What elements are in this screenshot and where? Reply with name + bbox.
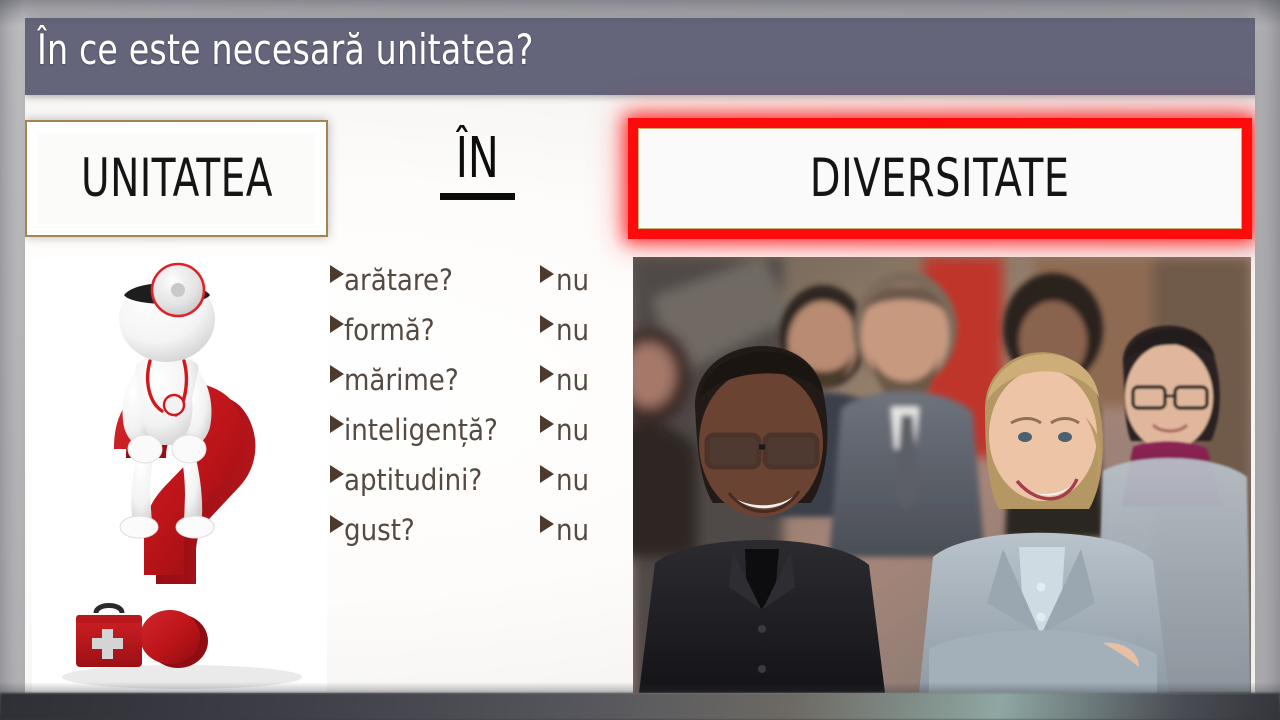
- diverse-business-team-photo: [633, 257, 1251, 693]
- list-item: inteligență? nu: [330, 415, 650, 465]
- in-underline: [440, 193, 515, 200]
- triangle-bullet-icon: [330, 315, 344, 333]
- page-title: În ce este necesară unitatea?: [37, 25, 534, 74]
- list-item: aptitudini? nu: [330, 465, 650, 515]
- diversitate-label: DIVERSITATE: [810, 148, 1070, 209]
- answer-label: nu: [556, 463, 589, 497]
- answer-cell: nu: [540, 465, 556, 483]
- diverse-team-photo-svg: [633, 257, 1251, 693]
- list-item: gust? nu: [330, 515, 650, 565]
- in-connector: ÎN: [417, 131, 537, 235]
- bottom-background-strip: [0, 693, 1280, 720]
- list-item: formă? nu: [330, 315, 650, 365]
- slide-root: În ce este necesară unitatea? UNITATEA Î…: [0, 0, 1280, 720]
- list-item: arătare? nu: [330, 265, 650, 315]
- triangle-bullet-icon: [540, 465, 554, 483]
- question-label: aptitudini?: [344, 463, 482, 497]
- answer-label: nu: [556, 313, 589, 347]
- question-label: arătare?: [344, 263, 453, 297]
- header-row: UNITATEA ÎN DIVERSITATE: [25, 113, 1255, 253]
- answer-cell: nu: [540, 315, 556, 333]
- unitatea-box[interactable]: UNITATEA: [25, 120, 328, 237]
- question-label: mărime?: [344, 363, 459, 397]
- slide-title-bar: În ce este necesară unitatea?: [25, 18, 1255, 95]
- triangle-bullet-icon: [330, 415, 344, 433]
- triangle-bullet-icon: [330, 365, 344, 383]
- triangle-bullet-icon: [330, 515, 344, 533]
- in-label: ÎN: [455, 131, 498, 187]
- question-label: gust?: [344, 513, 415, 547]
- body-row: arătare? nu formă? nu mărime: [25, 257, 1255, 693]
- diversitate-box[interactable]: DIVERSITATE: [628, 118, 1252, 239]
- list-item: mărime? nu: [330, 365, 650, 415]
- triangle-bullet-icon: [540, 365, 554, 383]
- answer-cell: nu: [540, 365, 556, 383]
- answer-label: nu: [556, 413, 589, 447]
- question-answer-list: arătare? nu formă? nu mărime: [330, 265, 650, 565]
- triangle-bullet-icon: [330, 265, 344, 283]
- answer-cell: nu: [540, 415, 556, 433]
- triangle-bullet-icon: [540, 515, 554, 533]
- question-label: formă?: [344, 313, 435, 347]
- presentation-slide: În ce este necesară unitatea? UNITATEA Î…: [25, 18, 1255, 693]
- triangle-bullet-icon: [540, 315, 554, 333]
- doctor-illustration-svg: [32, 257, 327, 693]
- triangle-bullet-icon: [540, 415, 554, 433]
- triangle-bullet-icon: [330, 465, 344, 483]
- question-label: inteligență?: [344, 413, 498, 447]
- answer-label: nu: [556, 513, 589, 547]
- answer-cell: nu: [540, 265, 556, 283]
- answer-cell: nu: [540, 515, 556, 533]
- triangle-bullet-icon: [540, 265, 554, 283]
- answer-label: nu: [556, 263, 589, 297]
- doctor-question-mark-illustration: [32, 257, 327, 693]
- unitatea-label: UNITATEA: [81, 148, 273, 209]
- answer-label: nu: [556, 363, 589, 397]
